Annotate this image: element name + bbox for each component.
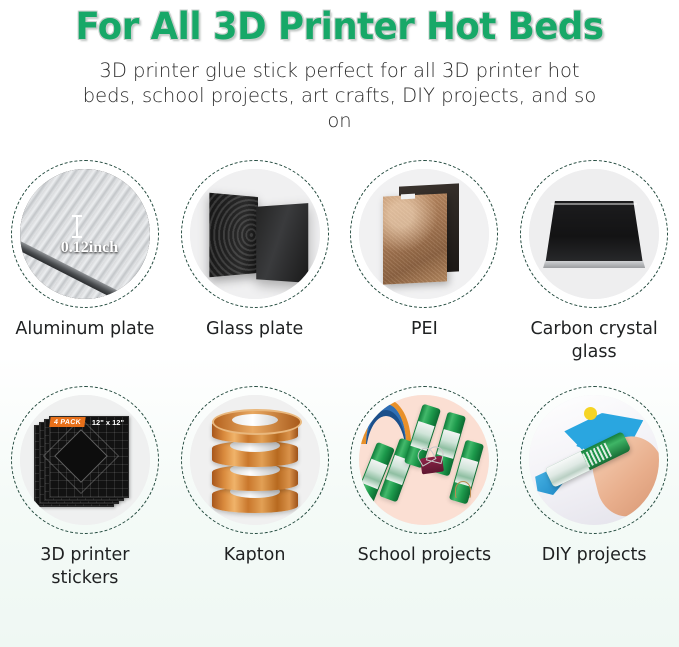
- page-subtitle: 3D printer glue stick perfect for all 3D…: [75, 58, 605, 133]
- circle-frame: 4 PACK 12" x 12": [11, 386, 159, 534]
- feature-label: School projects: [358, 544, 492, 567]
- carbon-glass-plate: [545, 201, 643, 265]
- glass-panel-textured: [209, 193, 258, 278]
- school-projects-photo: [359, 395, 489, 525]
- pei-front-sheet: [383, 193, 447, 284]
- feature-label: Kapton: [224, 544, 286, 567]
- feature-tile-pei: PEI: [344, 160, 504, 341]
- circle-frame: [181, 386, 329, 534]
- feature-label: 3D printer stickers: [10, 544, 160, 590]
- feature-tile-printer-stickers: 4 PACK 12" x 12" 3D printer stickers: [5, 386, 165, 590]
- circle-frame: [181, 160, 329, 308]
- circle-frame: [350, 160, 498, 308]
- wire-clip-decor: [455, 481, 471, 499]
- feature-label: PEI: [411, 318, 438, 341]
- carbon-glass-highlight: [551, 203, 637, 205]
- pei-sheet-photo: [359, 169, 489, 299]
- feature-label: Glass plate: [206, 318, 303, 341]
- binder-clip-icon: [420, 456, 444, 475]
- feature-row-2: 4 PACK 12" x 12" 3D printer stickers: [0, 386, 679, 590]
- circle-frame: 0.12inch: [11, 160, 159, 308]
- feature-label: Aluminum plate: [15, 318, 154, 341]
- pack-count-badge: 4 PACK: [49, 417, 85, 427]
- thickness-caliper-icon: [72, 215, 82, 238]
- kapton-top-hole: [232, 414, 278, 426]
- header-section: For All 3D Printer Hot Beds 3D printer g…: [0, 0, 679, 133]
- glass-plate-photo: [190, 169, 320, 299]
- sticker-size-label: 12" x 12": [92, 418, 124, 427]
- feature-label: Carbon crystal glass: [519, 318, 669, 364]
- feature-tile-aluminum-plate: 0.12inch Aluminum plate: [5, 160, 165, 341]
- circle-frame: [520, 386, 668, 534]
- pei-sheet-notch: [401, 194, 415, 200]
- carbon-crystal-glass-photo: [529, 169, 659, 299]
- diy-projects-photo: [529, 395, 659, 525]
- feature-tile-school-projects: School projects: [344, 386, 504, 567]
- circle-frame: [520, 160, 668, 308]
- feature-label: DIY projects: [542, 544, 647, 567]
- aluminum-plate-photo: 0.12inch: [20, 169, 150, 299]
- circle-frame: [350, 386, 498, 534]
- feature-tile-glass-plate: Glass plate: [175, 160, 335, 341]
- feature-tile-kapton: Kapton: [175, 386, 335, 567]
- printer-stickers-photo: 4 PACK 12" x 12": [20, 395, 150, 525]
- feature-grid: 0.12inch Aluminum plate Glass plate: [0, 160, 679, 590]
- kapton-tape-rolls-photo: [190, 395, 320, 525]
- glass-panel-plain: [256, 203, 308, 283]
- feature-tile-diy-projects: DIY projects: [514, 386, 674, 567]
- feature-tile-carbon-crystal-glass: Carbon crystal glass: [514, 160, 674, 364]
- thickness-value-label: 0.12inch: [61, 239, 118, 257]
- carbon-glass-base-rim: [543, 261, 645, 268]
- feature-row-1: 0.12inch Aluminum plate Glass plate: [0, 160, 679, 364]
- page-title: For All 3D Printer Hot Beds: [14, 4, 666, 50]
